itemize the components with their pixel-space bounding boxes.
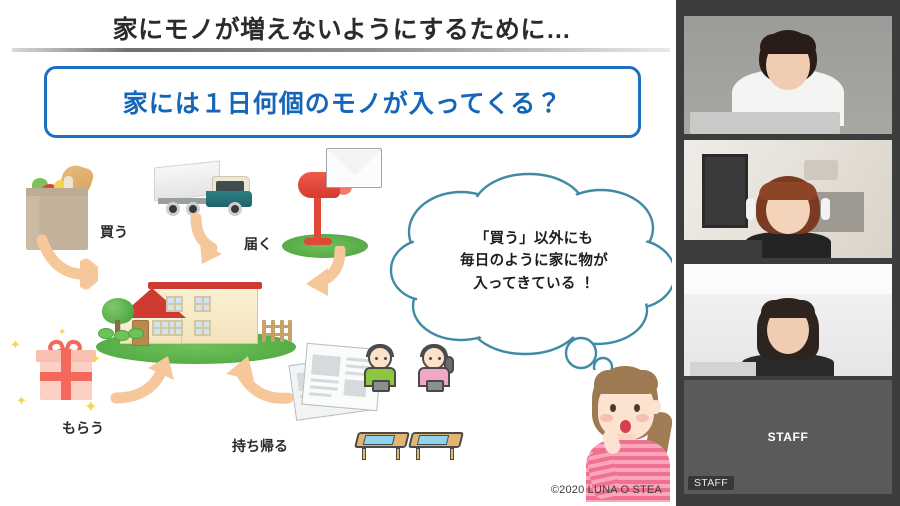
question-box: 家には１日何個のモノが入ってくる？ <box>44 66 641 138</box>
participant-tile-2[interactable] <box>684 140 892 258</box>
sparkle-icon: ✦ <box>58 328 66 338</box>
sparkle-icon: ✦ <box>10 338 21 351</box>
arrow-mail-to-house <box>288 246 348 300</box>
participant-name-badge: STAFF <box>688 476 734 490</box>
participant-tile-1[interactable] <box>684 16 892 134</box>
bubble-line-3: 入ってきている ！ <box>415 273 653 295</box>
title-divider <box>12 48 670 52</box>
copyright-notice: ©2020 LUNA O STEA <box>551 484 662 496</box>
label-deliver: 届く <box>244 234 272 254</box>
participant-tile-4-camera-off[interactable]: STAFF STAFF <box>684 380 892 494</box>
camera-off-display-name: STAFF <box>684 430 892 444</box>
arrow-buy-to-house <box>36 234 98 290</box>
bubble-line-1: 「買う」以外にも <box>415 228 653 250</box>
slide-title: 家にモノが増えないようにするために… <box>18 8 666 48</box>
delivery-truck-icon <box>154 160 264 222</box>
students-at-desks-icon <box>356 380 472 464</box>
arrow-bringhome-to-house <box>218 352 294 406</box>
thought-bubble-text: 「買う」以外にも 毎日のように家に物が 入ってきている ！ <box>415 228 653 295</box>
webcam-feed-2 <box>684 140 892 258</box>
meeting-screen: 家にモノが増えないようにするために… 家には１日何個のモノが入ってくる？ 買う <box>0 0 900 506</box>
diagram-stage: 買う 届く <box>4 142 672 502</box>
question-box-text: 家には１日何個のモノが入ってくる？ <box>123 84 563 120</box>
sparkle-icon: ✦ <box>90 352 101 365</box>
house-icon <box>96 270 296 362</box>
webcam-feed-3 <box>684 264 892 376</box>
envelope-icon <box>326 148 382 188</box>
participant-tile-3[interactable] <box>684 264 892 376</box>
label-bring-home: 持ち帰る <box>232 436 288 456</box>
thought-bubble: 「買う」以外にも 毎日のように家に物が 入ってきている ！ <box>389 170 672 370</box>
thinking-woman-icon <box>576 364 672 502</box>
participant-video-sidebar: STAFF STAFF <box>676 0 900 506</box>
arrow-gift-to-house <box>110 354 182 406</box>
label-receive: もらう <box>62 418 104 438</box>
sparkle-icon: ✦ <box>16 394 27 407</box>
slide-canvas: 家にモノが増えないようにするために… 家には１日何個のモノが入ってくる？ 買う <box>4 4 672 502</box>
webcam-feed-1 <box>684 16 892 134</box>
label-buy: 買う <box>100 222 128 242</box>
sparkle-icon: ✦ <box>84 400 97 416</box>
arrow-truck-to-house <box>188 214 230 268</box>
bubble-line-2: 毎日のように家に物が <box>415 250 653 272</box>
shared-slide-area[interactable]: 家にモノが増えないようにするために… 家には１日何個のモノが入ってくる？ 買う <box>0 0 676 506</box>
